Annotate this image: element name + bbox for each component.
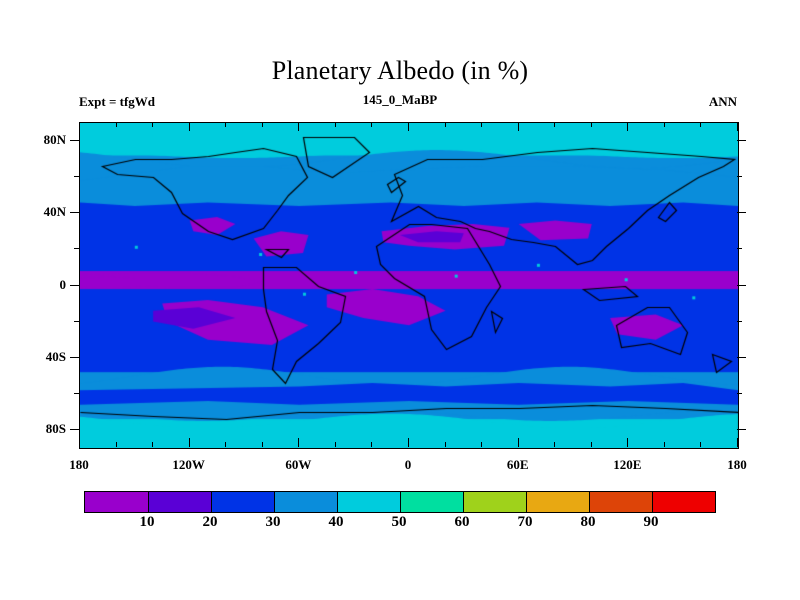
- colorbar-segment: [400, 492, 463, 512]
- x-axis-label: 0: [405, 457, 412, 473]
- y-tick-right: [737, 285, 746, 286]
- y-tick: [70, 285, 79, 286]
- x-tick-top: [700, 122, 701, 127]
- x-tick: [225, 442, 226, 447]
- colorbar-segment: [463, 492, 526, 512]
- colorbar-segment: [85, 492, 148, 512]
- x-tick: [79, 438, 80, 447]
- x-tick: [298, 438, 299, 447]
- colorbar-tick-label: 80: [581, 514, 596, 531]
- y-tick: [70, 429, 79, 430]
- y-axis-label: 40S: [4, 349, 66, 365]
- x-tick-top: [481, 122, 482, 127]
- x-tick: [627, 438, 628, 447]
- x-tick-top: [116, 122, 117, 127]
- x-tick-top: [371, 122, 372, 127]
- page-title: Planetary Albedo (in %): [0, 56, 800, 86]
- x-tick-top: [408, 122, 409, 131]
- x-tick-top: [554, 122, 555, 127]
- y-tick-right: [737, 248, 742, 249]
- x-tick: [700, 442, 701, 447]
- colorbar-tick-label: 70: [518, 514, 533, 531]
- x-tick: [445, 442, 446, 447]
- colorbar-divider: [526, 492, 527, 512]
- colorbar-divider: [148, 492, 149, 512]
- x-tick-top: [627, 122, 628, 131]
- colorbar-tick-label: 90: [644, 514, 659, 531]
- y-tick: [74, 321, 79, 322]
- x-tick-top: [189, 122, 190, 131]
- x-tick: [116, 442, 117, 447]
- x-tick: [262, 442, 263, 447]
- y-tick-right: [737, 176, 742, 177]
- x-tick: [408, 438, 409, 447]
- colorbar-divider: [211, 492, 212, 512]
- y-tick: [74, 176, 79, 177]
- x-axis-label: 120E: [613, 457, 641, 473]
- x-axis-label: 180: [727, 457, 747, 473]
- x-tick-top: [262, 122, 263, 127]
- x-tick-top: [225, 122, 226, 127]
- x-axis-label: 180: [69, 457, 89, 473]
- y-axis-label: 40N: [4, 204, 66, 220]
- x-tick-top: [591, 122, 592, 127]
- x-tick: [664, 442, 665, 447]
- x-tick-top: [298, 122, 299, 131]
- colorbar-tick-label: 30: [266, 514, 281, 531]
- x-tick: [518, 438, 519, 447]
- x-tick: [737, 438, 738, 447]
- colorbar-divider: [463, 492, 464, 512]
- x-tick: [591, 442, 592, 447]
- y-tick: [74, 393, 79, 394]
- x-tick: [554, 442, 555, 447]
- y-tick: [70, 357, 79, 358]
- season-label: ANN: [709, 94, 737, 110]
- colorbar-divider: [589, 492, 590, 512]
- y-tick: [70, 140, 79, 141]
- x-tick-top: [737, 122, 738, 131]
- x-tick: [189, 438, 190, 447]
- y-axis-label: 80S: [4, 421, 66, 437]
- x-tick-top: [518, 122, 519, 131]
- y-tick: [74, 248, 79, 249]
- y-tick-right: [737, 393, 742, 394]
- experiment-label: Expt = tfgWd: [79, 94, 155, 110]
- colorbar-tick-label: 10: [140, 514, 155, 531]
- colorbar-tick-label: 20: [203, 514, 218, 531]
- colorbar-divider: [400, 492, 401, 512]
- x-tick: [371, 442, 372, 447]
- colorbar-segment: [589, 492, 652, 512]
- colorbar-segment: [526, 492, 589, 512]
- y-tick-right: [737, 140, 746, 141]
- colorbar-divider: [274, 492, 275, 512]
- colorbar-tick-label: 60: [455, 514, 470, 531]
- colorbar-divider: [652, 492, 653, 512]
- map-plot-area: [79, 122, 739, 449]
- x-tick-top: [335, 122, 336, 127]
- x-axis-label: 60W: [285, 457, 311, 473]
- y-tick-right: [737, 212, 746, 213]
- y-axis-label: 0: [4, 277, 66, 293]
- x-axis-label: 60E: [507, 457, 529, 473]
- y-axis-label: 80N: [4, 132, 66, 148]
- x-tick: [481, 442, 482, 447]
- colorbar-segment: [652, 492, 715, 512]
- y-tick-right: [737, 321, 742, 322]
- colorbar-tick-label: 50: [392, 514, 407, 531]
- colorbar-segment: [211, 492, 274, 512]
- colorbar-segment: [148, 492, 211, 512]
- colorbar-segment: [274, 492, 337, 512]
- x-tick: [335, 442, 336, 447]
- y-tick-right: [737, 357, 746, 358]
- x-tick-top: [79, 122, 80, 131]
- colorbar-divider: [337, 492, 338, 512]
- y-tick: [70, 212, 79, 213]
- albedo-contour-map: [80, 123, 738, 448]
- x-axis-label: 120W: [172, 457, 205, 473]
- colorbar-segment: [337, 492, 400, 512]
- x-tick: [152, 442, 153, 447]
- x-tick-top: [152, 122, 153, 127]
- colorbar: [84, 491, 716, 513]
- colorbar-tick-label: 40: [329, 514, 344, 531]
- x-tick-top: [664, 122, 665, 127]
- y-tick-right: [737, 429, 746, 430]
- x-tick-top: [445, 122, 446, 127]
